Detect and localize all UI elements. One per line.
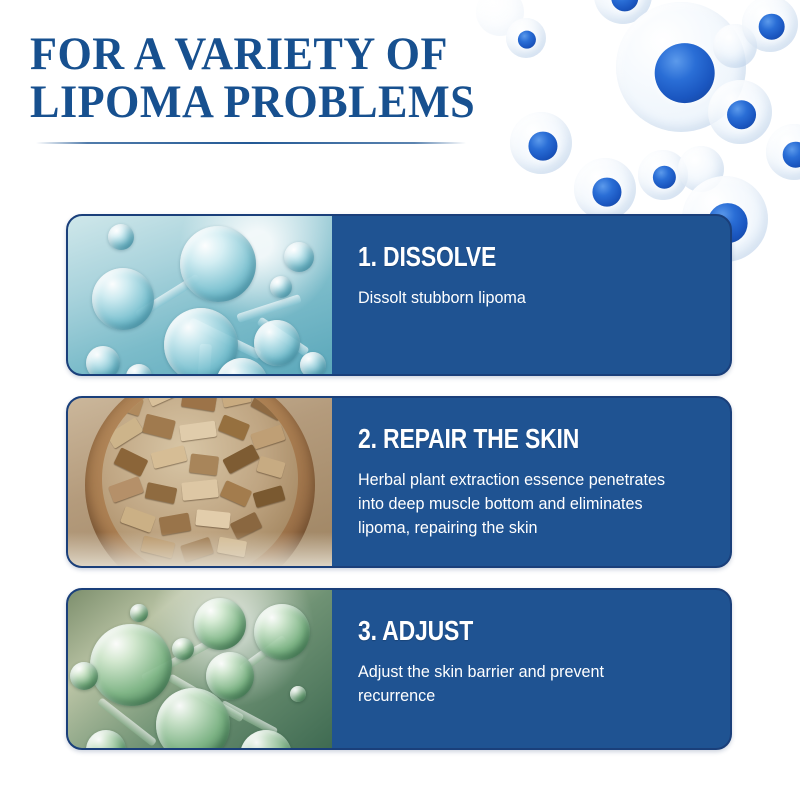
card-title: 1. DISSOLVE <box>358 242 642 272</box>
cell-bubble <box>766 124 800 180</box>
card-title: 3. ADJUST <box>358 616 642 646</box>
card-description: Herbal plant extraction essence penetrat… <box>358 468 687 540</box>
step-card-repair-the-skin[interactable]: 2. REPAIR THE SKIN Herbal plant extracti… <box>66 396 732 568</box>
cell-bubble <box>708 80 772 144</box>
heading-divider <box>36 142 466 144</box>
card-body: 2. REPAIR THE SKIN Herbal plant extracti… <box>332 398 730 566</box>
poster-root: FOR A VARIETY OF LIPOMA PROBLEMS <box>0 0 800 800</box>
card-description: Adjust the skin barrier and prevent recu… <box>358 660 687 708</box>
cell-bubble <box>713 24 757 68</box>
step-card-adjust[interactable]: 3. ADJUST Adjust the skin barrier and pr… <box>66 588 732 750</box>
card-body: 1. DISSOLVE Dissolt stubborn lipoma <box>332 216 730 374</box>
teal-molecule-photo <box>68 216 332 374</box>
step-card-dissolve[interactable]: 1. DISSOLVE Dissolt stubborn lipoma <box>66 214 732 376</box>
cell-bubble <box>574 158 636 220</box>
cell-bubble <box>594 0 652 24</box>
cell-bubble <box>678 146 724 192</box>
cell-bubble <box>638 150 688 200</box>
green-molecule-photo <box>68 590 332 748</box>
card-title: 2. REPAIR THE SKIN <box>358 424 642 454</box>
step-card-list: 1. DISSOLVE Dissolt stubborn lipoma <box>66 214 732 750</box>
cell-bubble <box>616 2 746 132</box>
card-body: 3. ADJUST Adjust the skin barrier and pr… <box>332 590 730 748</box>
herbal-root-chips-photo <box>68 398 332 566</box>
page-heading: FOR A VARIETY OF LIPOMA PROBLEMS <box>30 30 550 144</box>
page-title: FOR A VARIETY OF LIPOMA PROBLEMS <box>30 30 519 126</box>
cell-bubble <box>742 0 798 52</box>
card-description: Dissolt stubborn lipoma <box>358 286 687 310</box>
